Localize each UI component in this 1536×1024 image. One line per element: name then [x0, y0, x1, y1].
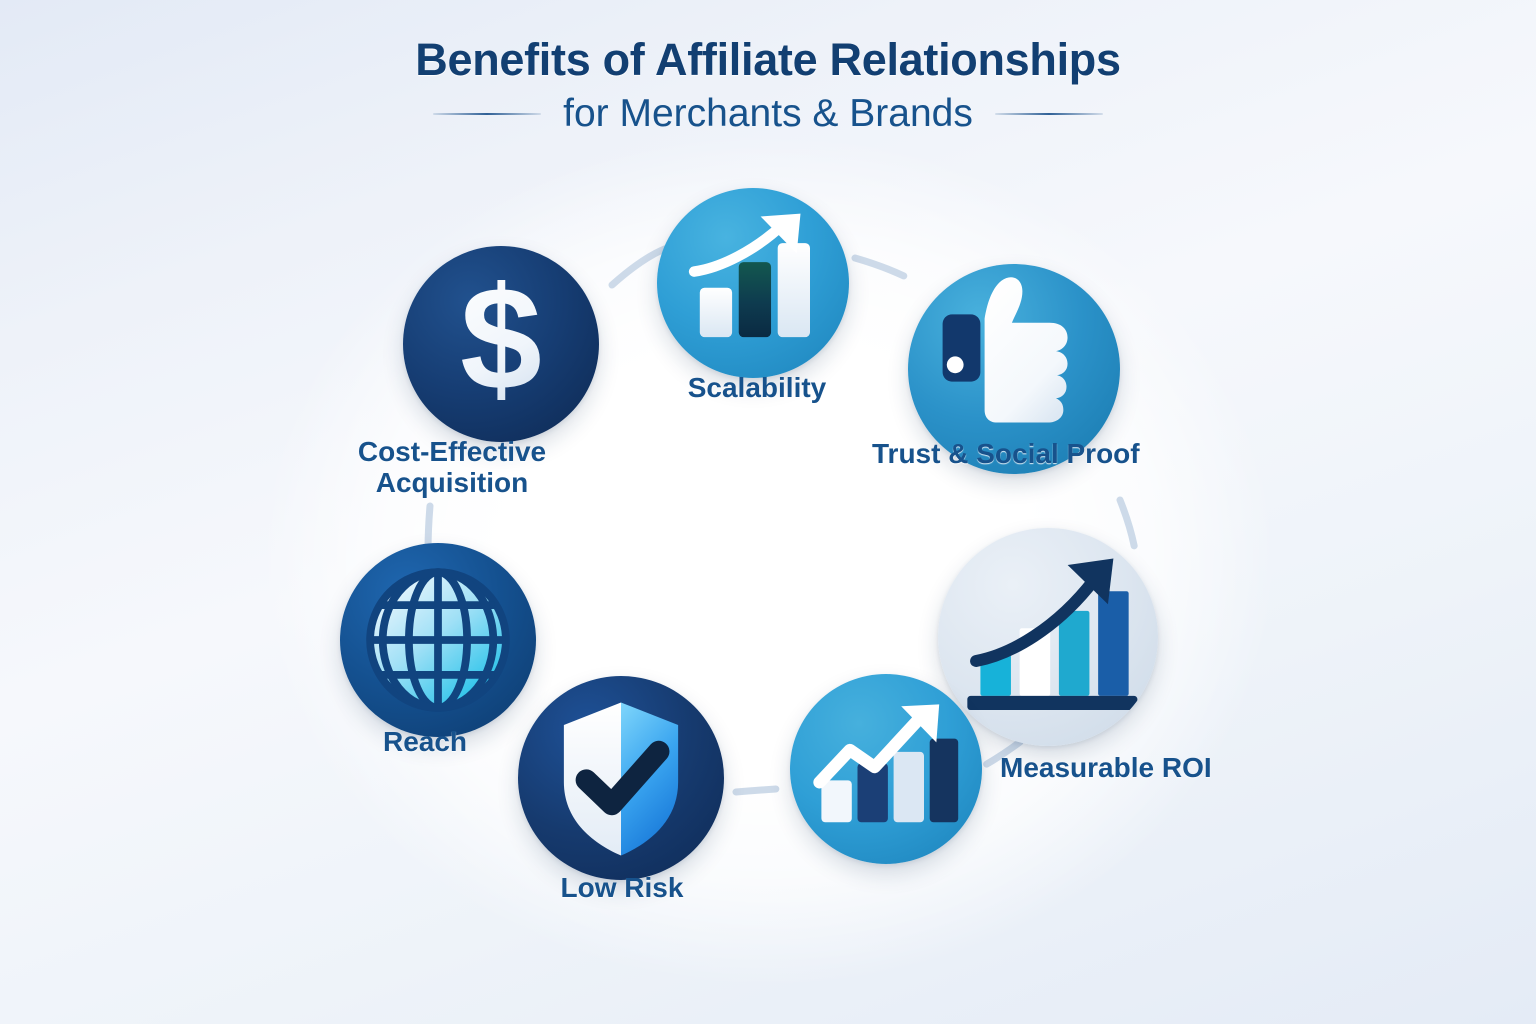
node-label-trust-social-proof: Trust & Social Proof — [872, 438, 1292, 469]
page-subtitle-row: for Merchants & Brands — [0, 93, 1536, 136]
node-reach[interactable] — [340, 543, 536, 737]
bar-chart-growth-icon[interactable] — [657, 188, 849, 378]
bar-chart-growth-glyph — [657, 188, 849, 378]
title-rule-right — [995, 113, 1103, 115]
node-scalability[interactable] — [657, 188, 849, 378]
trending-up-bars-icon[interactable] — [790, 674, 982, 864]
title-rule-left — [433, 113, 541, 115]
page-title: Benefits of Affiliate Relationships — [0, 36, 1536, 85]
node-cost-effective-acquisition[interactable]: $ — [403, 246, 599, 442]
globe-icon[interactable] — [340, 543, 536, 737]
connector-arcs — [0, 0, 1536, 1024]
shield-check-glyph — [518, 676, 724, 880]
node-label-cost-effective-acquisition: Cost-Effective Acquisition — [292, 436, 612, 499]
dollar-sign-icon[interactable]: $ — [403, 246, 599, 442]
node-label-measurable-roi: Measurable ROI — [1000, 752, 1420, 783]
trending-up-bars-glyph — [790, 674, 982, 864]
node-label-low-risk: Low Risk — [472, 872, 772, 903]
svg-text:$: $ — [460, 257, 542, 421]
dollar-sign-glyph: $ — [403, 246, 599, 442]
node-label-reach: Reach — [285, 726, 565, 757]
node-low-risk[interactable] — [518, 676, 724, 880]
node-label-scalability: Scalability — [607, 372, 907, 403]
page-title-block: Benefits of Affiliate Relationships for … — [0, 36, 1536, 135]
node-growth-chart[interactable] — [790, 674, 982, 864]
page-subtitle: for Merchants & Brands — [563, 93, 973, 136]
shield-check-icon[interactable] — [518, 676, 724, 880]
globe-glyph — [340, 543, 536, 737]
connector-lowrisk-to-growth — [736, 788, 790, 792]
infographic-canvas: Benefits of Affiliate Relationships for … — [0, 0, 1536, 1024]
